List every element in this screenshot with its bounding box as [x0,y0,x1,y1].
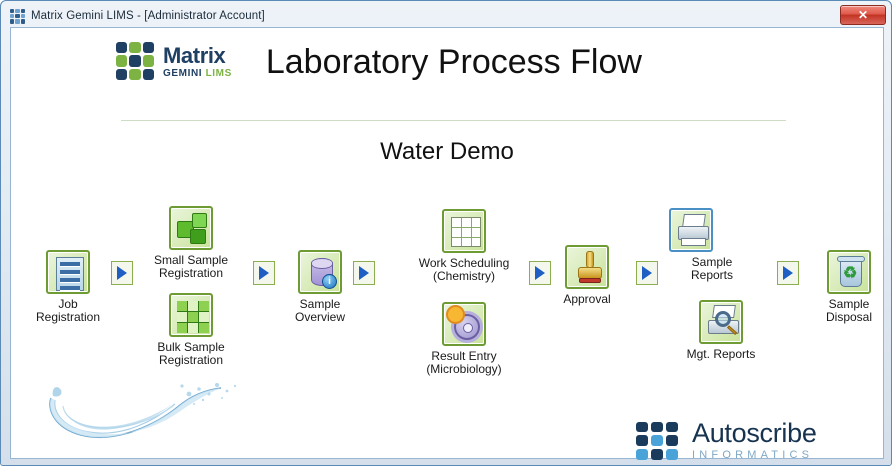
flow-node-approval[interactable]: Approval [527,245,647,306]
flow-node-sample-reports[interactable]: Sample Reports [631,208,751,282]
window-title: Matrix Gemini LIMS - [Administrator Acco… [31,10,265,22]
page-header: Matrix GEMINI LIMS Laboratory Process Fl… [116,42,796,82]
spreadsheet-icon [442,209,486,253]
printer-icon [669,208,713,252]
info-badge-icon: i [322,274,337,289]
header-divider [121,120,786,121]
page-subtitle: Water Demo [11,138,883,166]
matrix-logo-text: Matrix [163,45,232,67]
matrix-logo-icon [116,42,156,82]
matrix-logo-gemini: GEMINI [163,68,202,79]
water-splash-image [39,380,244,450]
printer-magnifier-icon [699,300,743,344]
flow-node-job-registration[interactable]: Job Registration [8,250,128,324]
flow-node-label: Mgt. Reports [661,348,781,361]
flow-node-work-scheduling[interactable]: Work Scheduling (Chemistry) [404,209,524,283]
matrix-wordmark: Matrix GEMINI LIMS [163,45,232,79]
flow-node-bulk-sample-registration[interactable]: Bulk Sample Registration [131,293,251,367]
page-title: Laboratory Process Flow [266,43,642,82]
flow-node-label: Sample Reports [673,256,751,282]
flow-node-sample-disposal[interactable]: ♻ Sample Disposal [789,250,892,324]
flow-node-label: Job Registration [8,298,128,324]
connector-arrow-1[interactable] [111,261,133,285]
flow-node-result-entry[interactable]: Result Entry (Microbiology) [404,302,524,376]
recycle-bin-icon: ♻ [827,250,871,294]
connector-arrow-3[interactable] [353,261,375,285]
autoscribe-tagline: INFORMATICS [692,450,817,461]
gear-sunburst-icon [442,302,486,346]
flow-node-label: Sample Overview [260,298,380,324]
flow-node-label: Sample Disposal [789,298,892,324]
green-grid-icon [169,293,213,337]
flow-node-label: Approval [527,293,647,306]
matrix-logo-lims: LIMS [206,68,232,79]
flow-node-mgt-reports[interactable]: Mgt. Reports [661,300,781,361]
autoscribe-brand-name: Autoscribe [692,420,817,447]
flow-node-label: Small Sample Registration [131,254,251,280]
app-grid-icon [10,9,25,24]
building-icon [46,250,90,294]
flow-node-small-sample-registration[interactable]: Small Sample Registration [131,206,251,280]
flow-node-label: Result Entry (Microbiology) [404,350,524,376]
flow-node-label: Bulk Sample Registration [131,341,251,367]
autoscribe-grid-icon [636,422,678,460]
rubber-stamp-icon [565,245,609,289]
database-info-icon: i [298,250,342,294]
green-cubes-icon [169,206,213,250]
client-area: Matrix GEMINI LIMS Laboratory Process Fl… [10,27,884,459]
autoscribe-logo: Autoscribe INFORMATICS [636,420,817,461]
title-bar: Matrix Gemini LIMS - [Administrator Acco… [6,5,886,27]
close-button[interactable]: ✕ [840,5,886,25]
flow-node-label: Work Scheduling (Chemistry) [404,257,524,283]
application-window: Matrix Gemini LIMS - [Administrator Acco… [0,0,892,466]
